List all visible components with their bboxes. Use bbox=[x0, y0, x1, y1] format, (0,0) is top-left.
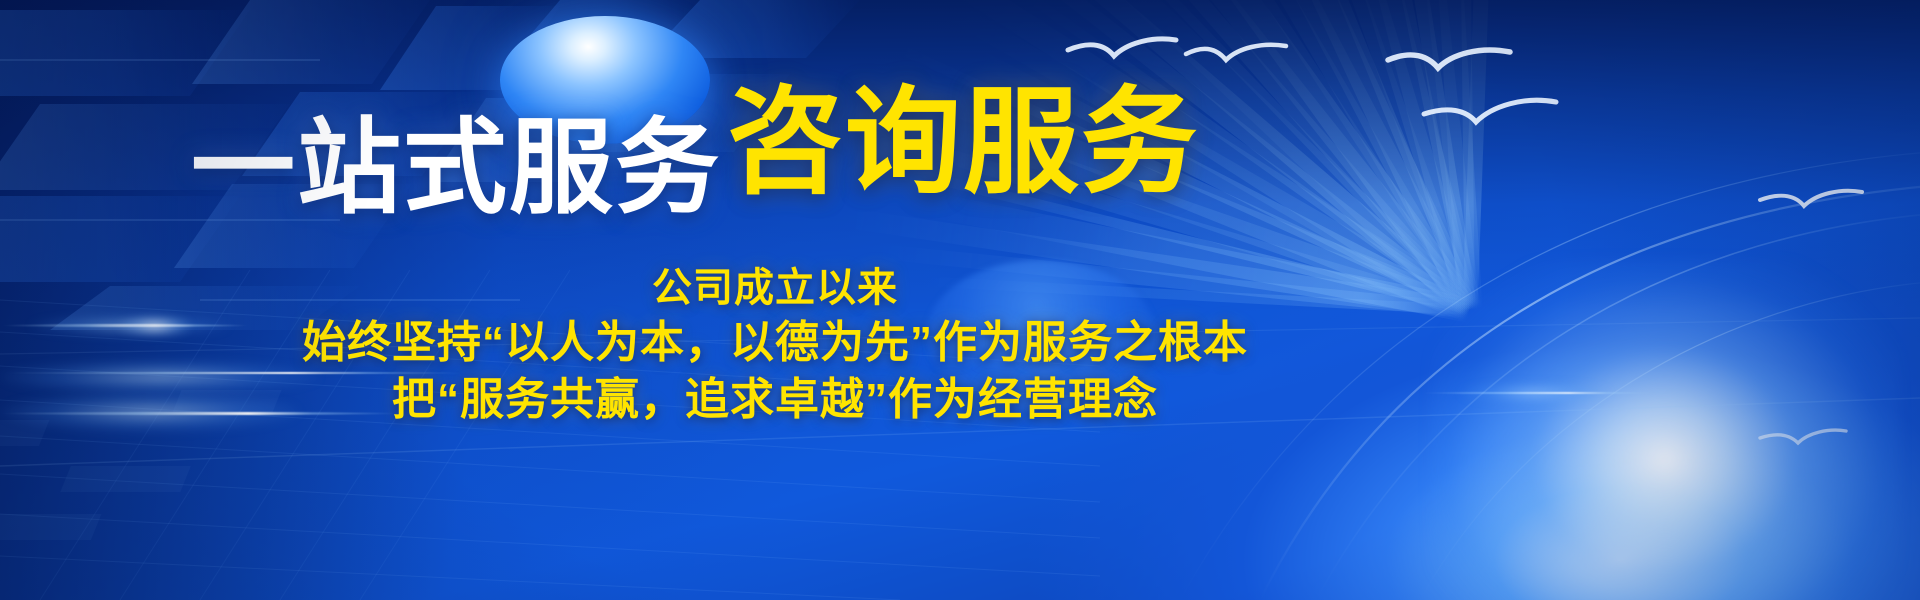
banner-subtitle: 公司成立以来 始终坚持“以人为本，以德为先”作为服务之根本 把“服务共赢，追求卓… bbox=[0, 262, 1550, 428]
title-primary: 一站式服务 bbox=[191, 111, 721, 227]
subtitle-line-2: 始终坚持“以人为本，以德为先”作为服务之根本 bbox=[0, 314, 1550, 371]
subtitle-line-1: 公司成立以来 bbox=[0, 262, 1550, 314]
title-highlight: 咨询服务 bbox=[727, 77, 1199, 207]
subtitle-line-3: 把“服务共赢，追求卓越”作为经营理念 bbox=[0, 371, 1550, 428]
promo-banner: 一站式服务咨询服务 公司成立以来 始终坚持“以人为本，以德为先”作为服务之根本 … bbox=[0, 0, 1920, 600]
banner-title: 一站式服务咨询服务 bbox=[0, 74, 1390, 242]
